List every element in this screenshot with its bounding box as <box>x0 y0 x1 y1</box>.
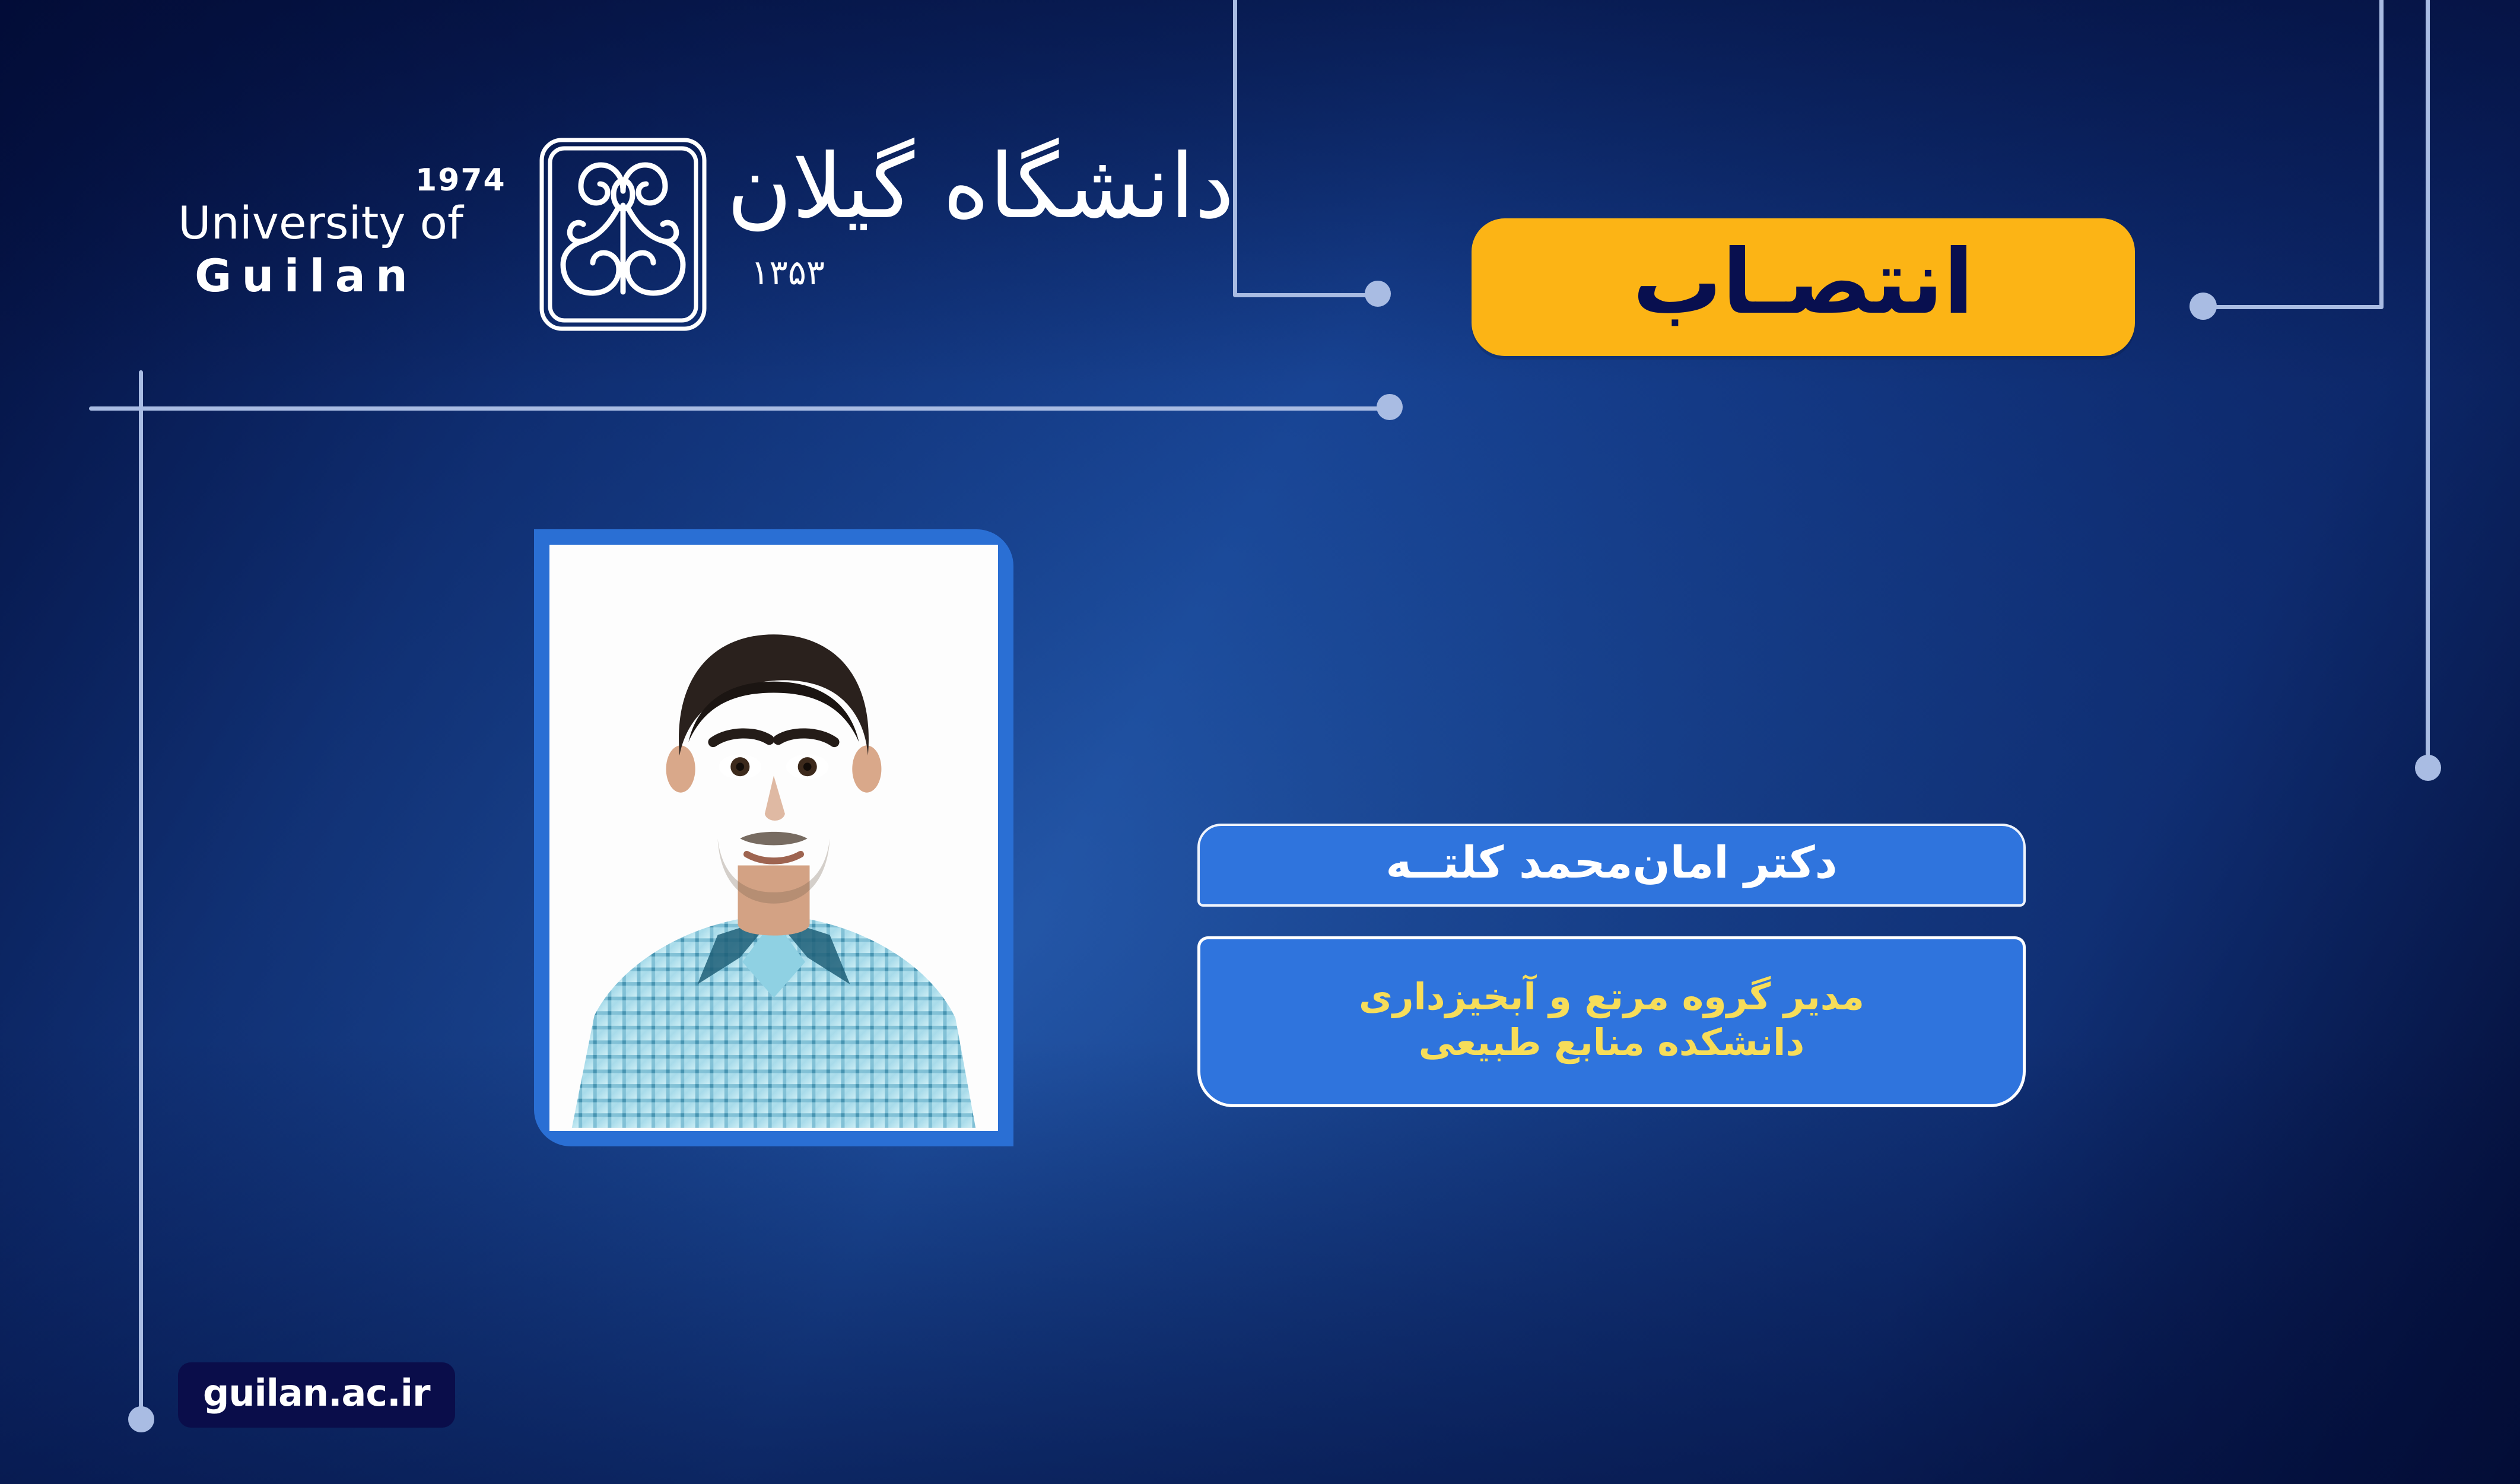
person-role-line-1: مدیر گروه مرتع و آبخیزداری <box>1359 974 1864 1020</box>
decor-dot-left-horizontal-end <box>1377 394 1403 420</box>
portrait-photo <box>549 545 998 1131</box>
decor-dot-left-bottom <box>128 1406 154 1432</box>
website-pill[interactable]: guilan.ac.ir <box>178 1362 455 1428</box>
person-name-banner: دکتر امان‌محمد کلتــه <box>1197 824 2026 907</box>
logo-english-lockup: 1974 University of Guilan <box>178 165 510 302</box>
decor-line-mid-horizontal <box>1233 293 1381 297</box>
decor-line-far-right-vertical <box>2426 0 2430 765</box>
university-logo: 1974 University of Guilan دانشگاه گیل <box>178 136 1222 350</box>
logo-persian-lockup: دانشگاه گیلان ۱۳۵۳ <box>700 142 1234 344</box>
decor-dot-right <box>2189 293 2217 320</box>
logo-university-word: University of <box>178 199 510 247</box>
portrait-frame <box>534 529 1013 1146</box>
butterfly-emblem-icon <box>537 136 709 332</box>
person-role-banner: مدیر گروه مرتع و آبخیزداری دانشکده منابع… <box>1197 936 2026 1107</box>
poster-canvas: 1974 University of Guilan دانشگاه گیل <box>0 0 2520 1484</box>
logo-founding-year-fa: ۱۳۵۳ <box>751 255 825 290</box>
logo-founding-year-en: 1974 <box>415 165 510 196</box>
website-url: guilan.ac.ir <box>203 1375 430 1412</box>
decor-dot-mid <box>1365 281 1391 307</box>
person-name: دکتر امان‌محمد کلتــه <box>1385 841 1837 885</box>
decor-line-right-horizontal <box>2210 305 2384 309</box>
decor-line-left-horizontal <box>89 406 1388 411</box>
person-role-line-2: دانشکده منابع طبیعی <box>1419 1019 1804 1066</box>
decor-line-right-vertical <box>2379 0 2384 309</box>
announcement-ribbon: انتصـاب <box>1472 218 2135 356</box>
portrait-illustration <box>549 545 998 1128</box>
logo-university-name-fa: دانشگاه گیلان <box>727 142 1234 231</box>
decor-dot-far-right <box>2415 755 2441 781</box>
decor-line-left-vertical <box>139 370 143 1421</box>
announcement-ribbon-label: انتصـاب <box>1632 238 1974 327</box>
logo-guilan-word: Guilan <box>178 249 510 302</box>
